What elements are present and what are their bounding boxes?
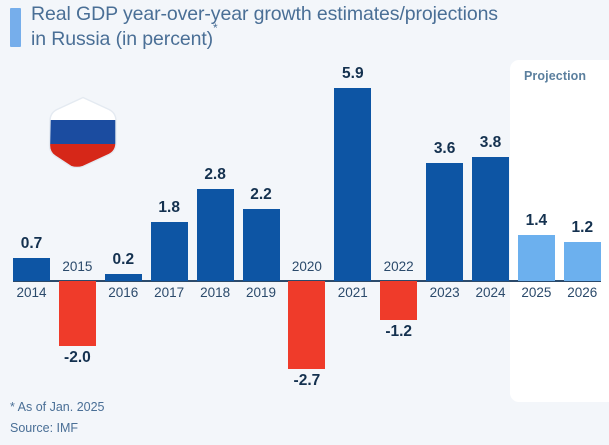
bar-2016 [105,274,142,281]
bar-2021 [334,88,371,281]
value-label-2014: 0.7 [2,235,62,253]
value-label-2019: 2.2 [231,186,291,204]
value-label-2026: 1.2 [552,219,609,237]
value-label-2018: 2.8 [185,166,245,184]
bar-2026 [564,242,601,281]
footnote: * As of Jan. 2025 [10,400,105,414]
bar-2015 [59,281,96,346]
bar-2018 [197,189,234,281]
value-label-2015: -2.0 [47,349,107,367]
bar-2020 [288,281,325,369]
year-label-2021: 2021 [323,285,383,300]
value-label-2024: 3.8 [461,134,521,152]
bar-2022 [380,281,417,320]
source-label: Source: IMF [10,421,78,435]
value-label-2021: 5.9 [323,65,383,83]
value-label-2020: -2.7 [277,372,337,390]
year-label-2022: 2022 [369,259,429,274]
year-label-2026: 2026 [552,285,609,300]
bar-2024 [472,157,509,281]
bar-2017 [151,222,188,281]
bar-2025 [518,235,555,281]
value-label-2022: -1.2 [369,323,429,341]
year-label-2014: 2014 [2,285,62,300]
bar-2014 [13,258,50,281]
value-label-2016: 0.2 [93,251,153,269]
bar-2023 [426,163,463,281]
bar-2019 [243,209,280,281]
chart-canvas: Real GDP year-over-year growth estimates… [0,0,609,445]
year-label-2019: 2019 [231,285,291,300]
bar-chart-plot: 0.72014-2.020150.220161.820172.820182.22… [0,0,609,445]
value-label-2017: 1.8 [139,199,199,217]
year-label-2020: 2020 [277,259,337,274]
